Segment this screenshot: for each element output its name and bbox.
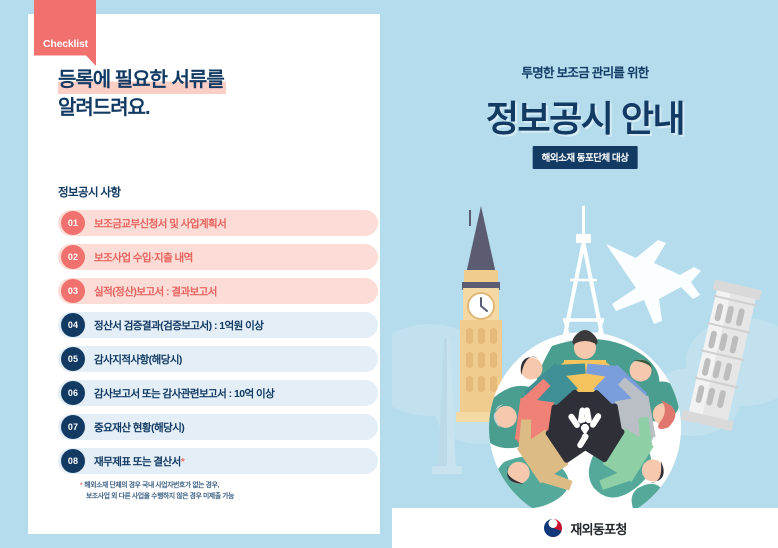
agency-logo: 재외동포청 [392,508,778,548]
item-label: 실적(정산)보고서 : 결과보고서 [94,284,217,299]
item-number-badge: 02 [61,245,85,269]
item-label: 보조사업 수입·지출 내역 [94,250,193,265]
world-landmarks-globe-people-illustration [392,170,778,510]
heading-line-1: 등록에 필요한 서류를 [58,66,226,94]
list-item: 03 실적(정산)보고서 : 결과보고서 [58,278,378,304]
item-number-badge: 05 [61,347,85,371]
checklist-card: Checklist 등록에 필요한 서류를 알려드려요. 정보공시 사항 01 … [28,14,380,534]
footnote-marker: * [80,482,82,489]
item-label: 재무제표 또는 결산서 [94,456,181,468]
panel-kicker: 투명한 보조금 관리를 위한 [392,62,778,81]
item-number-badge: 08 [61,449,85,473]
agency-name: 재외동포청 [570,519,626,538]
list-item: 04 정산서 검증결과(검증보고서) : 1억원 이상 [58,312,378,338]
taegeuk-icon [543,518,563,538]
footnote-line-1: 해외소재 단체의 경우 국내 사업자번호가 없는 경우, [84,482,219,489]
poster-root: Checklist 등록에 필요한 서류를 알려드려요. 정보공시 사항 01 … [0,0,778,548]
list-section-title: 정보공시 사항 [58,184,120,200]
page-title: 정보공시 안내 [392,90,778,142]
item-label: 중요재산 현황(해당시) [94,420,184,435]
item-label: 감사지적사항(해당시) [94,352,182,367]
item-label: 정산서 검증결과(검증보고서) : 1억원 이상 [94,318,263,333]
list-item: 01 보조금교부신청서 및 사업계획서 [58,210,378,236]
item-number-badge: 06 [61,381,85,405]
item-number-badge: 03 [61,279,85,303]
heading-line-2: 알려드려요. [58,94,150,122]
list-item: 05 감사지적사항(해당시) [58,346,378,372]
list-item: 06 감사보고서 또는 감사관련보고서 : 10억 이상 [58,380,378,406]
disclosure-items-list: 01 보조금교부신청서 및 사업계획서 02 보조사업 수입·지출 내역 03 … [58,210,378,482]
item-footnote-marker: * [181,456,185,468]
logo-footer: 재외동포청 [392,508,778,548]
checklist-ribbon-tab: Checklist [34,0,96,66]
list-item: 02 보조사업 수입·지출 내역 [58,244,378,270]
footnote-line-2: 보조사업 외 다른 사업을 수행하지 않은 경우 미제출 가능 [80,491,370,502]
footnote: *해외소재 단체의 경우 국내 사업자번호가 없는 경우, 보조사업 외 다른 … [80,480,370,502]
item-number-badge: 01 [61,211,85,235]
card-heading: 등록에 필요한 서류를 알려드려요. [58,66,358,123]
list-item: 08 재무제표 또는 결산서* [58,448,378,474]
list-item: 07 중요재산 현황(해당시) [58,414,378,440]
checklist-tab-label: Checklist [43,38,88,50]
title-panel: 투명한 보조금 관리를 위한 정보공시 안내 해외소재 동포단체 대상 [392,0,778,548]
item-number-badge: 04 [61,313,85,337]
item-label: 감사보고서 또는 감사관련보고서 : 10억 이상 [94,386,274,401]
item-label-wrap: 재무제표 또는 결산서* [94,454,184,469]
airplane-icon [606,240,701,324]
item-label: 보조금교부신청서 및 사업계획서 [94,216,226,231]
subject-badge: 해외소재 동포단체 대상 [533,146,638,169]
item-number-badge: 07 [61,415,85,439]
